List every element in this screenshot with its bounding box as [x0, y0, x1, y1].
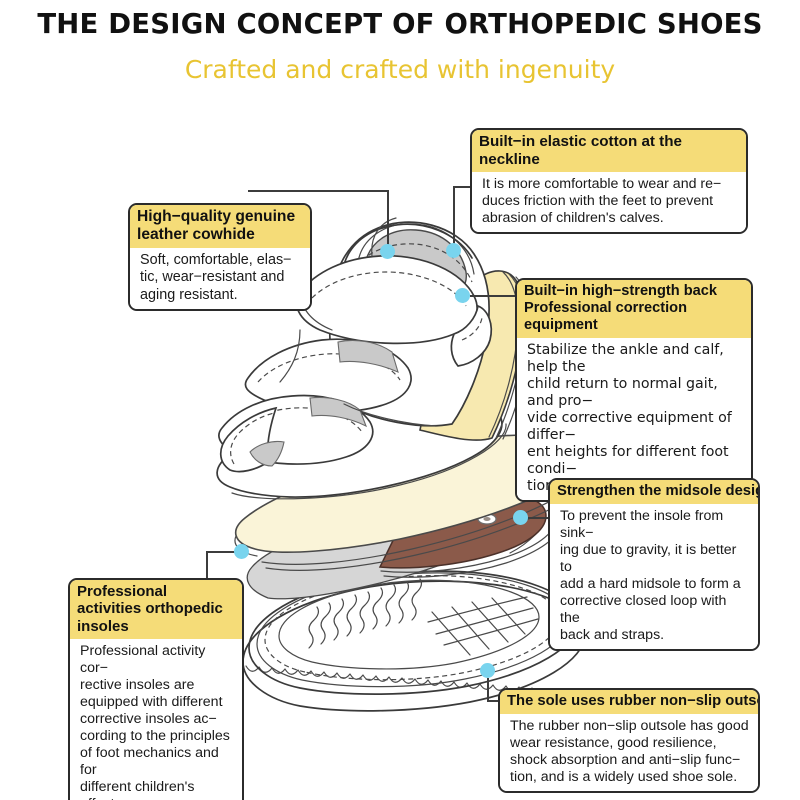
callout-cowhide-line-3: aging resistant.: [140, 287, 302, 304]
callout-back-support[interactable]: Built−in high−strength back Professional…: [515, 278, 753, 502]
callout-neckline-body: It is more comfortable to wear and re− d…: [472, 172, 746, 232]
callout-outsole-line-3: shock absorption and anti−slip func−: [510, 752, 750, 769]
page-subtitle: Crafted and crafted with ingenuity: [0, 55, 800, 84]
callout-midsole-line-5: back and straps.: [560, 627, 750, 644]
callout-outsole-line-4: tion, and is a widely used shoe sole.: [510, 769, 750, 786]
callout-midsole-body: To prevent the insole from sink− ing due…: [550, 504, 758, 649]
callout-midsole[interactable]: Strengthen the midsole design To prevent…: [548, 478, 760, 651]
callout-insoles-line-2: rective insoles are: [80, 677, 234, 694]
callout-cowhide-line-1: Soft, comfortable, elas−: [140, 252, 302, 269]
callout-insoles[interactable]: Professional activities orthopedic insol…: [68, 578, 244, 800]
callout-midsole-line-4: corrective closed loop with the: [560, 593, 750, 627]
callout-insoles-line-6: of foot mechanics and for: [80, 745, 234, 779]
callout-neckline-line-1: It is more comfortable to wear and re−: [482, 176, 738, 193]
callout-cowhide-title: High−quality genuine leather cowhide: [130, 205, 310, 248]
leader-back-support-h: [470, 295, 515, 297]
connector-dot-outsole: [480, 663, 495, 678]
connector-dot-cowhide: [380, 244, 395, 259]
connector-dot-neckline: [446, 243, 461, 258]
callout-outsole-title: The sole uses rubber non−slip outsole: [500, 690, 758, 714]
callout-cowhide-line-2: tic, wear−resistant and: [140, 269, 302, 286]
callout-outsole[interactable]: The sole uses rubber non−slip outsole Th…: [498, 688, 760, 793]
callout-neckline-title: Built−in elastic cotton at the neckline: [472, 130, 746, 172]
grey-midsole-part: [247, 501, 540, 599]
callout-back-support-line-1: Stabilize the ankle and calf, help the: [527, 342, 743, 376]
brown-hard-midsole-part: [380, 495, 561, 577]
callout-insoles-line-1: Professional activity cor−: [80, 643, 234, 677]
callout-insoles-line-7: different children's affect−: [80, 779, 234, 800]
callout-back-support-body: Stabilize the ankle and calf, help the c…: [517, 338, 751, 500]
connector-dot-midsole: [513, 510, 528, 525]
callout-insoles-line-3: equipped with different: [80, 694, 234, 711]
leader-insole-v: [206, 551, 208, 581]
callout-back-support-line-4: ent heights for different foot condi−: [527, 444, 743, 478]
callout-insoles-line-4: corrective insoles ac−: [80, 711, 234, 728]
callout-insoles-body: Professional activity cor− rective insol…: [70, 639, 242, 800]
page-title: THE DESIGN CONCEPT OF ORTHOPEDIC SHOES: [0, 8, 800, 40]
callout-midsole-title: Strengthen the midsole design: [550, 480, 758, 504]
infographic-page: THE DESIGN CONCEPT OF ORTHOPEDIC SHOES C…: [0, 0, 800, 800]
callout-midsole-line-3: add a hard midsole to form a: [560, 576, 750, 593]
connector-dot-insole: [234, 544, 249, 559]
callout-midsole-line-2: ing due to gravity, it is better to: [560, 542, 750, 576]
callout-outsole-body: The rubber non−slip outsole has good wea…: [500, 714, 758, 791]
leader-cowhide-v2: [387, 190, 389, 252]
connector-dot-back-support: [455, 288, 470, 303]
leader-cowhide-h: [248, 190, 389, 192]
callout-outsole-line-1: The rubber non−slip outsole has good: [510, 718, 750, 735]
callout-cowhide-body: Soft, comfortable, elas− tic, wear−resis…: [130, 248, 310, 309]
callout-back-support-line-2: child return to normal gait, and pro−: [527, 376, 743, 410]
callout-neckline-line-2: duces friction with the feet to prevent: [482, 193, 738, 210]
leader-neckline-v: [453, 186, 455, 246]
callout-outsole-line-2: wear resistance, good resilience,: [510, 735, 750, 752]
callout-insoles-title: Professional activities orthopedic insol…: [70, 580, 242, 639]
callout-cowhide[interactable]: High−quality genuine leather cowhide Sof…: [128, 203, 312, 311]
callout-midsole-line-1: To prevent the insole from sink−: [560, 508, 750, 542]
leader-outsole-v: [487, 678, 489, 700]
callout-back-support-line-3: vide corrective equipment of differ−: [527, 410, 743, 444]
callout-neckline-line-3: abrasion of children's calves.: [482, 210, 738, 227]
callout-insoles-line-5: cording to the principles: [80, 728, 234, 745]
callout-neckline[interactable]: Built−in elastic cotton at the neckline …: [470, 128, 748, 234]
leader-insole-h: [206, 551, 236, 553]
callout-back-support-title: Built−in high−strength back Professional…: [517, 280, 751, 338]
